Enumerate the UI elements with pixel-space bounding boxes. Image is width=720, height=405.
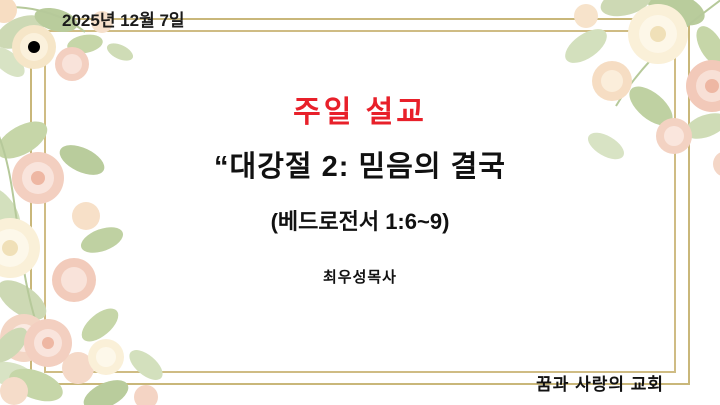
preacher-name: 최우성목사 <box>0 266 720 287</box>
slide-date: 2025년 12월 7일 <box>62 6 185 31</box>
scripture-reference: (베드로전서 1:6~9) <box>0 204 720 236</box>
slide-center-content: 주일 설교 “대강절 2: 믿음의 결국 (베드로전서 1:6~9) 최우성목사 <box>0 96 720 287</box>
sermon-slide: 2025년 12월 7일 주일 설교 “대강절 2: 믿음의 결국 (베드로전서… <box>0 0 720 405</box>
sermon-title: “대강절 2: 믿음의 결국 <box>0 151 720 184</box>
sermon-type-title: 주일 설교 <box>0 96 720 129</box>
church-name: 꿈과 사랑의 교회 <box>536 370 664 395</box>
